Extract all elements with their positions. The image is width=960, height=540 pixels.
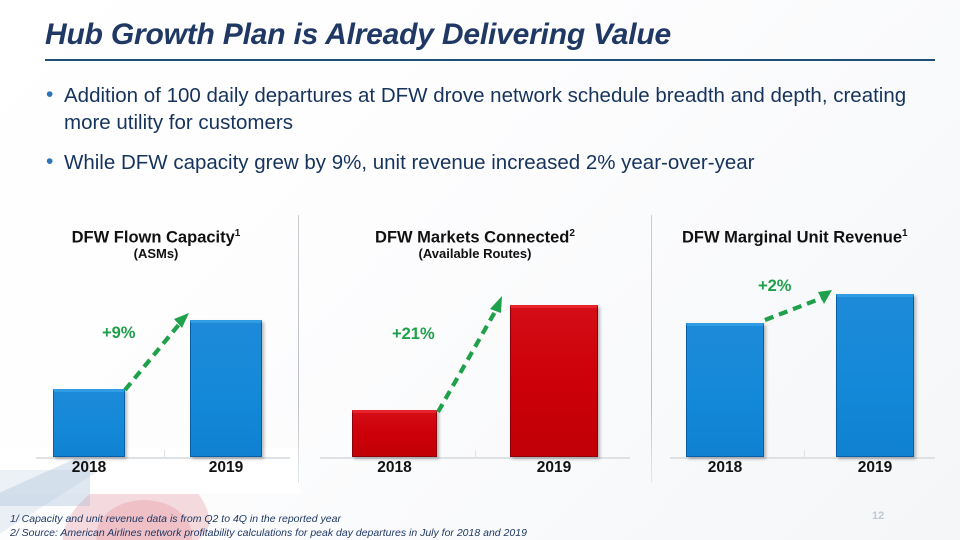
bullet-dot-icon: •: [46, 149, 64, 175]
charts-row: DFW Flown Capacity1 (ASMs) +9% 2018 2019: [0, 212, 960, 482]
x-tick-label-2019: 2019: [510, 459, 598, 477]
footnote-1: 1/ Capacity and unit revenue data is fro…: [10, 512, 527, 526]
x-tick-label-2018: 2018: [686, 459, 764, 477]
chart-panel-marginal-unit-revenue: DFW Marginal Unit Revenue1 +2% 2018 2019: [652, 212, 952, 482]
bullet-text: Addition of 100 daily departures at DFW …: [64, 82, 926, 136]
growth-annotation: +21%: [392, 325, 435, 344]
plot-area: +9% 2018 2019: [14, 212, 298, 482]
slide-canvas: Hub Growth Plan is Already Delivering Va…: [0, 0, 960, 540]
growth-arrow-icon: [300, 212, 650, 482]
title-underline: [45, 59, 935, 61]
growth-arrow-icon: [652, 212, 952, 482]
growth-annotation: +2%: [758, 277, 791, 296]
growth-annotation: +9%: [102, 324, 135, 343]
list-item: • Addition of 100 daily departures at DF…: [46, 82, 926, 136]
list-item: • While DFW capacity grew by 9%, unit re…: [46, 149, 926, 176]
page-number: 12: [872, 510, 884, 522]
x-tick-label-2018: 2018: [53, 459, 125, 477]
footnotes: 1/ Capacity and unit revenue data is fro…: [10, 512, 527, 540]
panel-divider-1: [298, 215, 299, 483]
footnote-2: 2/ Source: American Airlines network pro…: [10, 526, 527, 540]
plot-area: +2% 2018 2019: [652, 212, 952, 482]
x-tick-label-2018: 2018: [352, 459, 437, 477]
x-tick-label-2019: 2019: [836, 459, 914, 477]
page-title: Hub Growth Plan is Already Delivering Va…: [45, 18, 671, 52]
chart-panel-markets-connected: DFW Markets Connected2 (Available Routes…: [300, 212, 650, 482]
plot-area: +21% 2018 2019: [300, 212, 650, 482]
bullet-list: • Addition of 100 daily departures at DF…: [46, 82, 926, 189]
chart-panel-flown-capacity: DFW Flown Capacity1 (ASMs) +9% 2018 2019: [14, 212, 298, 482]
x-tick-label-2019: 2019: [190, 459, 262, 477]
bullet-text: While DFW capacity grew by 9%, unit reve…: [64, 149, 926, 176]
bullet-dot-icon: •: [46, 82, 64, 108]
growth-arrow-icon: [14, 212, 298, 482]
